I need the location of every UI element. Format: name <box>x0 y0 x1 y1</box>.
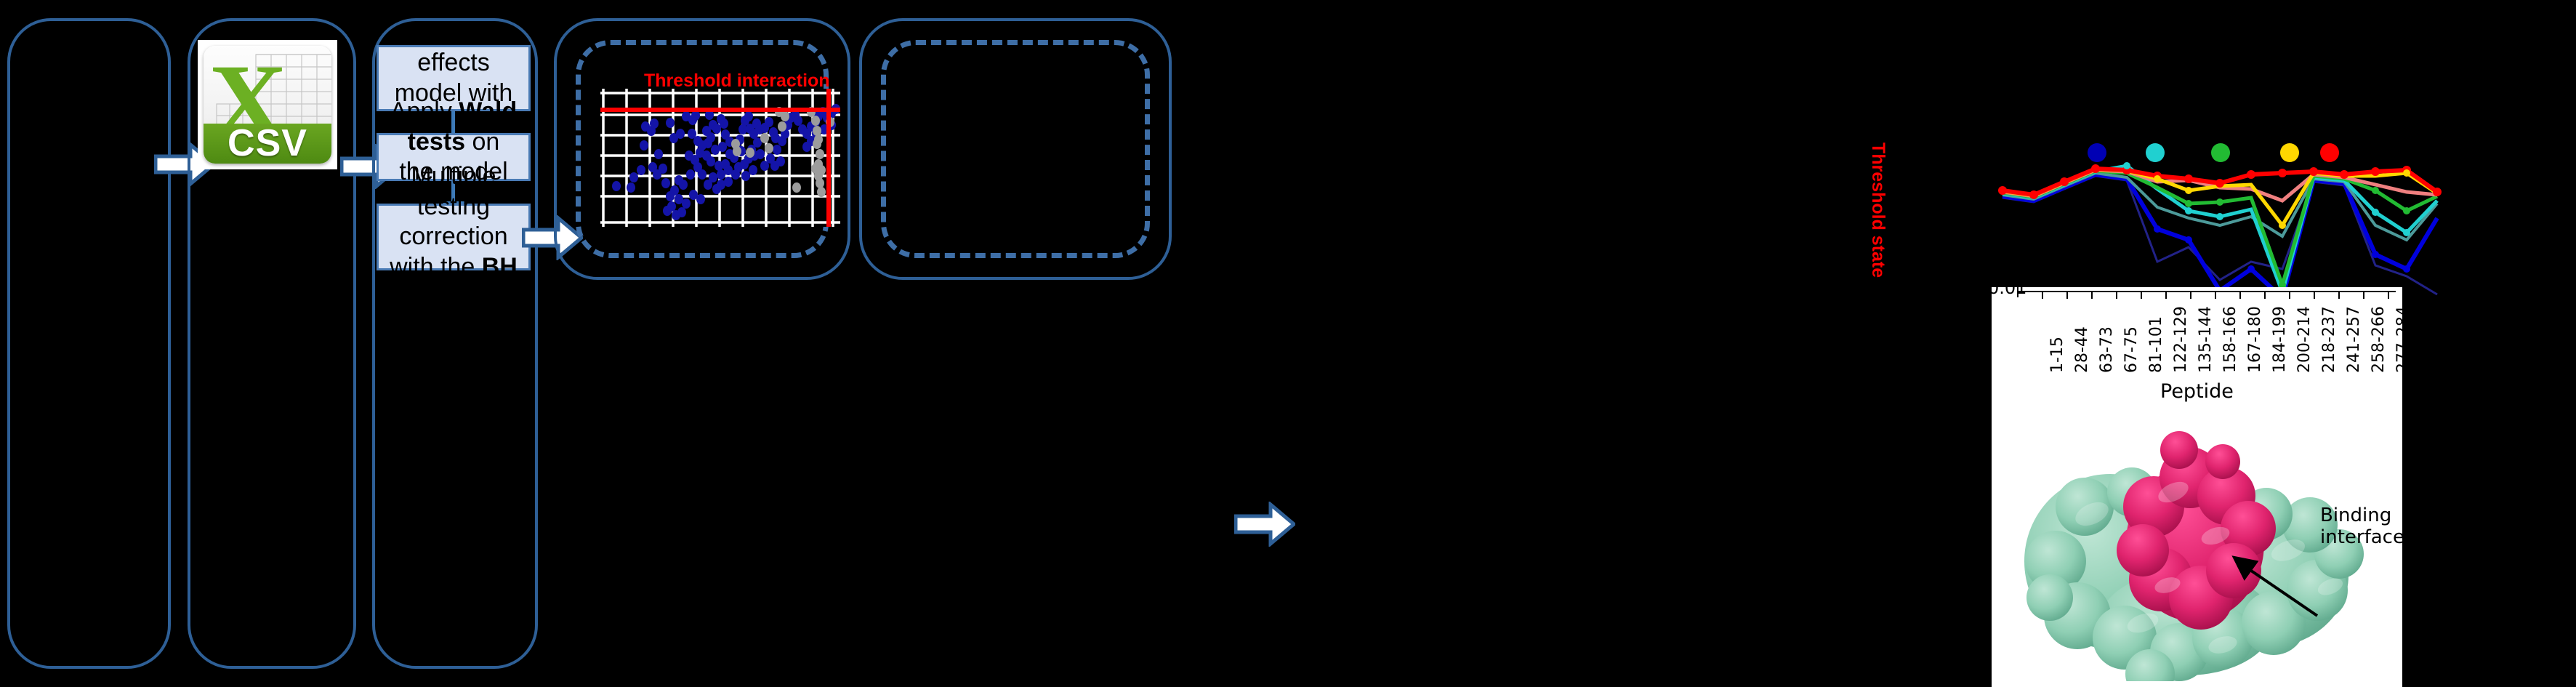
peptide-tick-81-101: 81-101 <box>2147 316 2165 373</box>
legend-dot-yellow <box>2280 143 2299 162</box>
multiple-testing-text: Multiple testingcorrectionwith the BH pr… <box>386 161 521 312</box>
peptide-tick-184-199: 184-199 <box>2271 306 2289 373</box>
peptide-tick-1-15: 1-15 <box>2048 337 2066 373</box>
peptide-tick-158-166: 158-166 <box>2221 306 2239 373</box>
structure-panel <box>859 18 1172 280</box>
binding-interface-annotation: Binding interface <box>2320 505 2402 549</box>
multiple-testing-box: Multiple testingcorrectionwith the BH pr… <box>377 204 531 270</box>
threshold-state-label: Threshold state <box>1867 142 1888 278</box>
peptide-tick-218-237: 218-237 <box>2320 306 2338 373</box>
peptide-tick-28-44: 28-44 <box>2073 326 2091 373</box>
legend-dot-green <box>2211 143 2230 162</box>
structure-figure: 0.01 1-1528-4463-7367-7581-101122-129135… <box>1992 287 2402 687</box>
x-axis-title: Peptide <box>2160 380 2234 403</box>
csv-label: CSV <box>228 121 307 164</box>
peptide-line-chart <box>1963 131 2442 302</box>
csv-icon-body: X CSV <box>204 46 331 164</box>
binding-line-2: interface <box>2320 527 2402 549</box>
csv-file-icon: X CSV <box>198 40 337 169</box>
peptide-tick-63-73: 63-73 <box>2098 326 2116 373</box>
flow-diagram-canvas: X CSV Fit a linear mixed-effects model w… <box>0 0 2576 687</box>
peptide-tick-258-266: 258-266 <box>2370 306 2388 373</box>
legend-dot-red <box>2320 143 2339 162</box>
arrow-to-structure <box>1234 502 1295 547</box>
csv-label-band: CSV <box>204 124 331 164</box>
binding-line-1: Binding <box>2320 505 2402 527</box>
peptide-tick-67-75: 67-75 <box>2122 326 2141 373</box>
peptide-tick-167-180: 167-180 <box>2246 306 2264 373</box>
legend-dot-cyan <box>2146 143 2165 162</box>
peptide-tick-200-214: 200-214 <box>2295 306 2314 373</box>
legend-dot-blue <box>2088 143 2106 162</box>
peptide-tick-241-257: 241-257 <box>2345 306 2363 373</box>
peptide-tick-122-129: 122-129 <box>2172 306 2190 373</box>
input-panel <box>7 18 171 669</box>
peptide-tick-277-284: 277-284 <box>2394 306 2402 373</box>
threshold-scatter <box>600 89 840 227</box>
peptide-tick-135-144: 135-144 <box>2197 306 2215 373</box>
